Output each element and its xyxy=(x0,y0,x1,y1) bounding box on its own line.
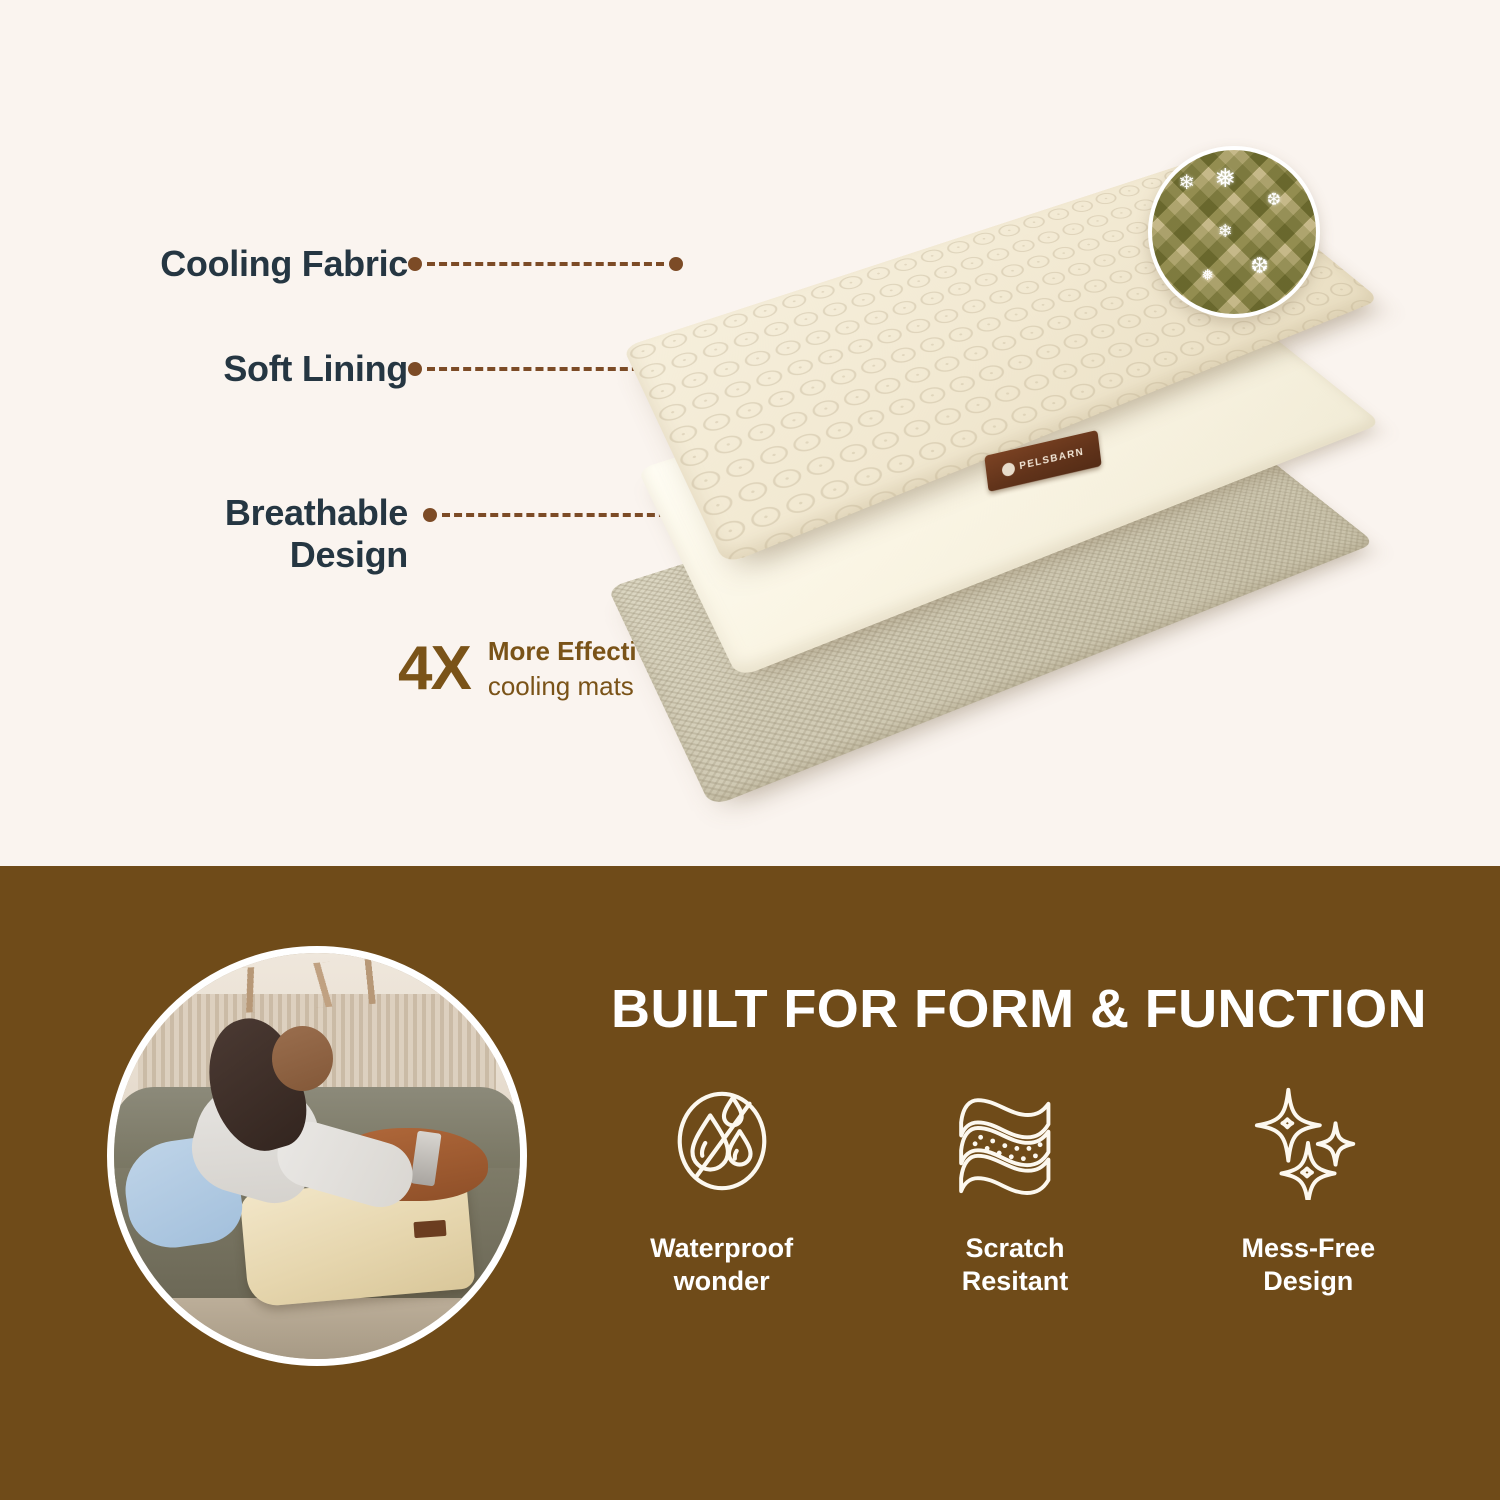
feature-mess-free: Mess-Free Design xyxy=(1183,1076,1433,1298)
product-infographic: Cooling Fabric Soft Lining Breathable De… xyxy=(0,0,1500,1500)
benefits-feature-grid: Waterproof wonder xyxy=(575,1076,1455,1298)
benefits-panel: BUILT FOR FORM & FUNCTION xyxy=(0,866,1500,1500)
snowflake-icon: ❅ xyxy=(1214,165,1236,191)
leader-dot-start xyxy=(408,257,422,271)
layers-panel: Cooling Fabric Soft Lining Breathable De… xyxy=(0,0,1500,866)
fabric-macro-circle: ❄ ❅ ❆ ❄ ❆ ❅ xyxy=(1148,146,1320,318)
photo-mat-brand-tag xyxy=(414,1220,448,1238)
paw-logo-icon xyxy=(1001,461,1015,477)
callout-label-breathable-design: Breathable Design xyxy=(98,492,408,577)
lifestyle-photo xyxy=(107,946,527,1366)
feature-label-waterproof: Waterproof wonder xyxy=(650,1232,793,1298)
snowflake-icon: ❄ xyxy=(1178,173,1195,193)
feature-label-mess-free: Mess-Free Design xyxy=(1242,1232,1376,1298)
photo-floor xyxy=(114,1298,520,1359)
benefits-headline: BUILT FOR FORM & FUNCTION xyxy=(589,978,1449,1040)
scratch-resistant-fabric-icon xyxy=(950,1076,1080,1206)
snowflake-icon: ❆ xyxy=(1267,191,1281,208)
callout-label-soft-lining: Soft Lining xyxy=(98,348,408,390)
claim-multiplier: 4X xyxy=(398,638,470,700)
leader-dot-start xyxy=(423,508,437,522)
snowflake-icon: ❅ xyxy=(1201,268,1214,283)
feature-label-scratch-resistant: Scratch Resitant xyxy=(962,1232,1069,1298)
leader-dot-start xyxy=(408,362,422,376)
snowflake-icon: ❆ xyxy=(1250,255,1268,277)
feature-waterproof: Waterproof wonder xyxy=(597,1076,847,1298)
sparkles-icon xyxy=(1243,1076,1373,1206)
brand-tag-label: PELSBARN xyxy=(1019,446,1085,472)
callout-label-cooling-fabric: Cooling Fabric xyxy=(98,243,408,285)
snowflake-icon: ❄ xyxy=(1218,222,1233,240)
benefits-content: BUILT FOR FORM & FUNCTION xyxy=(565,866,1465,1500)
feature-scratch-resistant: Scratch Resitant xyxy=(890,1076,1140,1298)
photo-person-head xyxy=(272,1026,333,1091)
waterproof-icon xyxy=(657,1076,787,1206)
